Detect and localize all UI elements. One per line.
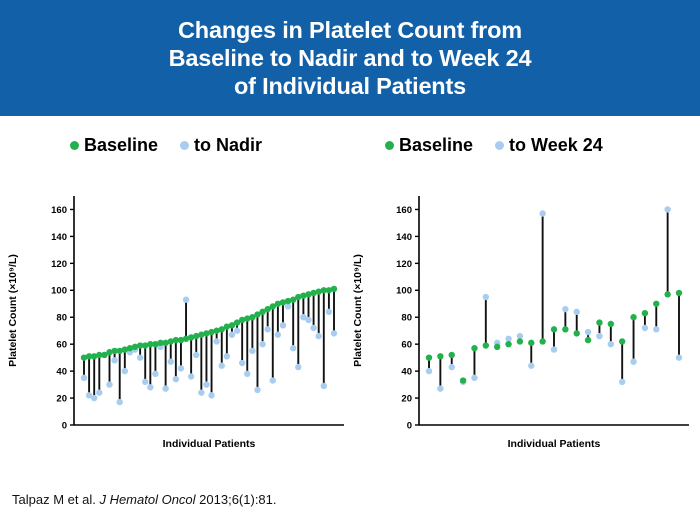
- slide-root: Changes in Platelet Count from Baseline …: [0, 0, 700, 525]
- citation: Talpaz M et al. J Hematol Oncol 2013;6(1…: [12, 492, 277, 507]
- legend-label-to-nadir: to Nadir: [194, 135, 262, 156]
- svg-text:140: 140: [51, 232, 67, 243]
- svg-text:40: 40: [56, 367, 67, 378]
- svg-text:100: 100: [51, 286, 67, 297]
- svg-text:20: 20: [401, 393, 412, 404]
- svg-text:120: 120: [51, 259, 67, 270]
- legend-group-right: Baseline to Week 24: [385, 128, 625, 162]
- green-dot-icon: [70, 141, 79, 150]
- svg-text:140: 140: [396, 232, 412, 243]
- green-dot-icon: [385, 141, 394, 150]
- svg-text:60: 60: [401, 340, 412, 351]
- legend-item-to-nadir: to Nadir: [180, 135, 262, 156]
- chart-panel-baseline-to-week-24: 020406080100120140160Platelet Count (×10…: [345, 170, 695, 470]
- svg-text:120: 120: [396, 259, 412, 270]
- svg-text:60: 60: [56, 340, 67, 351]
- svg-text:160: 160: [396, 205, 412, 216]
- legend-item-baseline-left: Baseline: [70, 135, 158, 156]
- legend-label-to-week-24: to Week 24: [509, 135, 603, 156]
- svg-text:Platelet Count (×10⁹/L): Platelet Count (×10⁹/L): [7, 254, 19, 367]
- blue-dot-icon: [180, 141, 189, 150]
- legend-item-to-week-24: to Week 24: [495, 135, 603, 156]
- legend-group-left: Baseline to Nadir: [70, 128, 284, 162]
- header-divider: [0, 116, 700, 119]
- svg-text:80: 80: [56, 313, 67, 324]
- svg-text:40: 40: [401, 367, 412, 378]
- svg-text:Platelet Count (×10⁹/L): Platelet Count (×10⁹/L): [352, 254, 364, 367]
- legend-label-baseline-left: Baseline: [84, 135, 158, 156]
- charts-area: 020406080100120140160Platelet Count (×10…: [0, 170, 700, 470]
- blue-dot-icon: [495, 141, 504, 150]
- chart-panel-baseline-to-nadir: 020406080100120140160Platelet Count (×10…: [0, 170, 350, 470]
- legend-bar: Baseline to Nadir Baseline to Week 24: [0, 128, 700, 162]
- legend-item-baseline-right: Baseline: [385, 135, 473, 156]
- page-title: Changes in Platelet Count from Baseline …: [169, 16, 532, 100]
- scatter-plot-baseline-to-week-24: 020406080100120140160Platelet Count (×10…: [345, 170, 695, 470]
- legend-label-baseline-right: Baseline: [399, 135, 473, 156]
- citation-details: 2013;6(1):81.: [199, 492, 276, 507]
- svg-text:0: 0: [62, 420, 67, 431]
- svg-text:20: 20: [56, 393, 67, 404]
- svg-text:80: 80: [401, 313, 412, 324]
- svg-text:Individual Patients: Individual Patients: [508, 438, 601, 450]
- title-banner: Changes in Platelet Count from Baseline …: [0, 0, 700, 116]
- svg-text:160: 160: [51, 205, 67, 216]
- svg-text:100: 100: [396, 286, 412, 297]
- scatter-plot-baseline-to-nadir: 020406080100120140160Platelet Count (×10…: [0, 170, 350, 470]
- citation-journal: J Hematol Oncol: [99, 492, 195, 507]
- svg-text:Individual Patients: Individual Patients: [163, 438, 256, 450]
- svg-text:0: 0: [407, 420, 412, 431]
- citation-authors: Talpaz M et al.: [12, 492, 96, 507]
